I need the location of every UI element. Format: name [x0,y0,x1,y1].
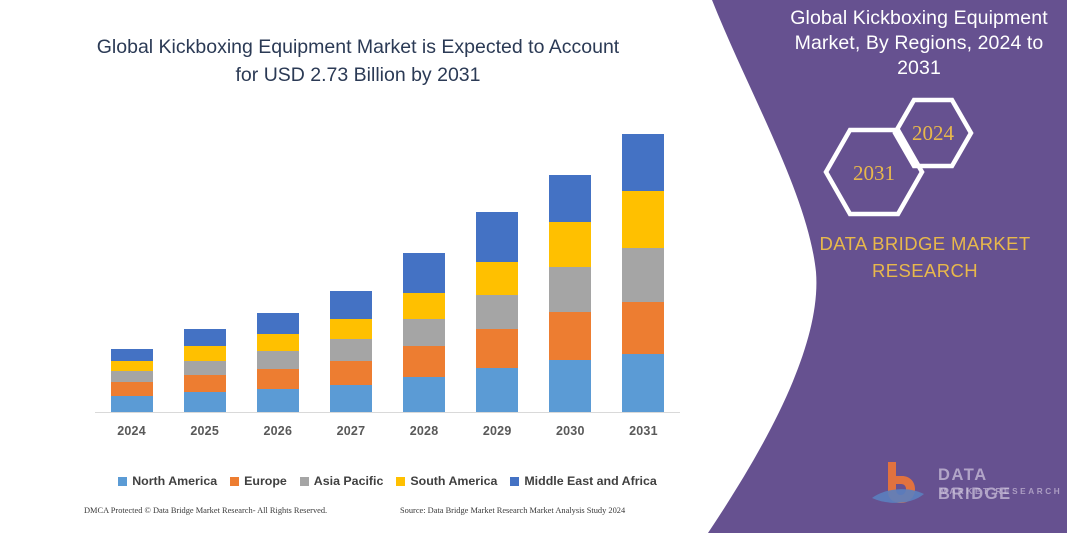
chart-title: Global Kickboxing Equipment Market is Ex… [88,33,628,89]
bar-segment [622,191,664,249]
bar-segment [549,175,591,222]
legend-item[interactable]: South America [396,474,497,488]
legend-swatch-icon [230,477,239,486]
bar-segment [257,351,299,368]
bar-column [622,134,664,413]
bar-segment [403,377,445,413]
bar-segment [257,389,299,413]
bar-segment [622,302,664,355]
bar-segment [549,222,591,266]
bar-segment [184,392,226,413]
x-axis-line [95,412,680,413]
hexagon-group: 2024 2031 [806,92,1046,222]
bar-segment [476,295,518,329]
x-axis-label: 2027 [316,424,386,438]
bar-segment [476,262,518,295]
bar-segment [111,382,153,396]
bar-segment [330,339,372,360]
bar-chart-plot [95,110,680,413]
bar-segment [403,293,445,319]
bar-segment [184,375,226,392]
bar-column [184,329,226,413]
legend-label: Middle East and Africa [524,474,656,488]
bar-segment [549,312,591,360]
panel-title: Global Kickboxing Equipment Market, By R… [780,6,1058,81]
bar-segment [622,354,664,413]
bar-column [476,212,518,413]
x-axis-label: 2029 [462,424,532,438]
x-axis-label: 2030 [535,424,605,438]
x-axis-labels: 20242025202620272028202920302031 [95,424,680,444]
infographic-canvas: Global Kickboxing Equipment Market, By R… [0,0,1067,533]
bar-segment [330,385,372,413]
bar-column [403,253,445,413]
x-axis-label: 2031 [608,424,678,438]
bar-segment [257,369,299,389]
legend-item[interactable]: Asia Pacific [300,474,384,488]
footer-source: Source: Data Bridge Market Research Mark… [400,506,625,515]
hexagon-shapes: 2024 2031 [806,92,1046,222]
dbmr-logo-subtext: MARKET RESEARCH [940,487,1062,496]
footer: DMCA Protected © Data Bridge Market Rese… [0,506,690,528]
legend-item[interactable]: Middle East and Africa [510,474,656,488]
brand-name: DATA BRIDGE MARKET RESEARCH [795,230,1055,284]
dbmr-logo-text: DATA BRIDGE [938,466,1067,504]
bar-segment [111,361,153,371]
bar-segment [403,319,445,346]
bar-segment [549,267,591,312]
bar-segment [330,291,372,319]
bar-segment [111,396,153,413]
bar-segment [622,134,664,191]
bar-column [330,291,372,413]
chart-legend: North AmericaEuropeAsia PacificSouth Ame… [95,472,680,490]
legend-item[interactable]: North America [118,474,217,488]
bar-segment [257,313,299,334]
legend-item[interactable]: Europe [230,474,287,488]
x-axis-label: 2026 [243,424,313,438]
bar-segment [257,334,299,351]
bar-column [549,175,591,413]
legend-swatch-icon [510,477,519,486]
legend-swatch-icon [300,477,309,486]
legend-label: Europe [244,474,287,488]
bar-segment [330,319,372,339]
bar-segment [403,346,445,376]
x-axis-label: 2024 [97,424,167,438]
bar-segment [622,248,664,302]
x-axis-label: 2028 [389,424,459,438]
bar-segment [111,349,153,360]
bar-segment [330,361,372,385]
bar-segment [476,368,518,413]
bar-segment [476,212,518,261]
legend-label: North America [132,474,217,488]
hexagon-back-label: 2031 [853,161,895,185]
bar-segment [549,360,591,413]
bar-segment [184,346,226,360]
legend-swatch-icon [396,477,405,486]
legend-label: Asia Pacific [314,474,384,488]
footer-copyright: DMCA Protected © Data Bridge Market Rese… [84,506,327,515]
bar-column [257,313,299,413]
bar-segment [184,329,226,346]
bar-segment [184,361,226,375]
bar-segment [111,371,153,382]
bar-segment [476,329,518,367]
x-axis-label: 2025 [170,424,240,438]
bar-segment [403,253,445,292]
legend-swatch-icon [118,477,127,486]
bar-column [111,349,153,413]
legend-label: South America [410,474,497,488]
hexagon-front-label: 2024 [912,121,955,145]
